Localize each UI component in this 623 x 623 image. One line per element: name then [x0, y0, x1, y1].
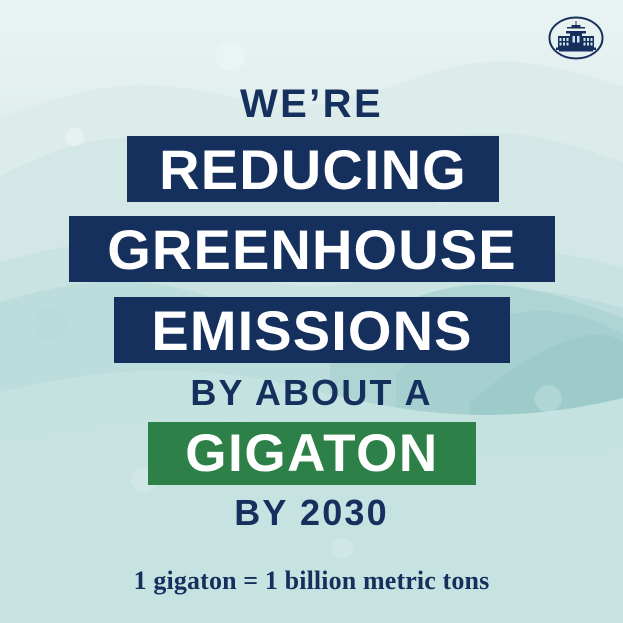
headline-line-by-2030: BY 2030 — [0, 494, 623, 532]
footnote-text: 1 gigaton = 1 billion metric tons — [0, 566, 623, 596]
headline-line-gigaton: GIGATON — [148, 422, 476, 485]
headline-line-reducing: REDUCING — [127, 136, 499, 202]
headline-line-greenhouse: GREENHOUSE — [69, 216, 555, 282]
poster-canvas: WE’RE REDUCING GREENHOUSE EMISSIONS BY A… — [0, 0, 623, 623]
headline-line-emissions: EMISSIONS — [114, 297, 510, 363]
headline-stack: WE’RE REDUCING GREENHOUSE EMISSIONS BY A… — [0, 0, 623, 623]
headline-line-were: WE’RE — [0, 84, 623, 124]
headline-line-by-about-a: BY ABOUT A — [0, 374, 623, 412]
